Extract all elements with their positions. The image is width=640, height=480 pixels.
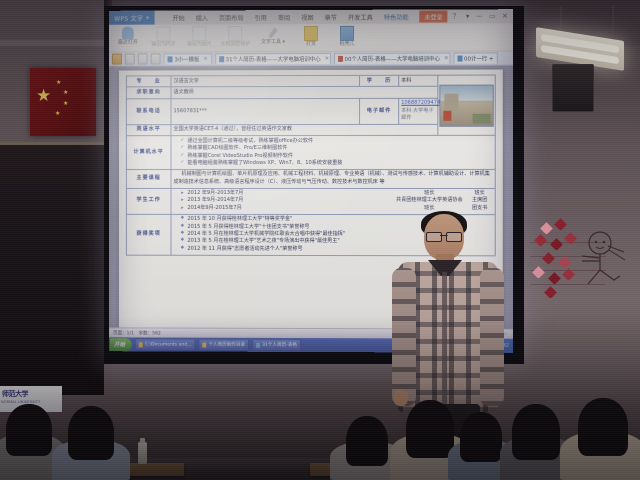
- lamp-rod-2: [612, 6, 614, 36]
- wps-logo-label: WPS 文字: [114, 13, 143, 22]
- menu-bar: 开始 插入 页面布局 引用 审阅 视图 章节 开发工具 特色功能: [172, 12, 408, 22]
- stick-figure-icon: [580, 230, 632, 286]
- doc-icon: [219, 56, 224, 62]
- doc-tab-3[interactable]: 00个人简历-表格——大学电脑培训中心 ✕: [334, 53, 450, 64]
- doc-tab-label: 31个人简历-表格——大学电脑培训中心: [226, 55, 321, 63]
- doc-icon: [168, 56, 173, 62]
- menu-item-layout[interactable]: 页面布局: [219, 13, 244, 22]
- ribbon-docer[interactable]: 稻壳儿: [332, 25, 362, 48]
- page-icon: [192, 26, 206, 41]
- courses-label: 主要课程: [126, 169, 171, 188]
- role-column-item: 主席团: [467, 197, 493, 204]
- work-role: 共青团桂林理工大学英语协会: [392, 197, 466, 204]
- open-doc-button[interactable]: [125, 54, 135, 65]
- list-item: 能看电脑组装熟练掌握了Windows XP、Win7、8、10系统安装重装: [181, 160, 492, 168]
- page-icon: [157, 27, 171, 42]
- close-icon[interactable]: ✕: [444, 56, 449, 62]
- ribbon-doc-encrypt[interactable]: 文档加密保护: [220, 25, 250, 48]
- menu-item-insert[interactable]: 插入: [196, 13, 208, 22]
- save-doc-button[interactable]: [138, 53, 148, 64]
- doc-tab-2[interactable]: 31个人简历-表格——大学电脑培训中心 ✕: [215, 53, 331, 64]
- ribbon-text-tools[interactable]: 文字工具 ▾: [256, 25, 290, 46]
- row-value: 汉语言文学: [171, 75, 360, 87]
- list-item: 熟练掌握Corel VideoStudio Pro视频制作软件: [181, 152, 492, 160]
- china-flag-icon: ★★ ★★★: [30, 68, 96, 136]
- docer-icon: [340, 26, 354, 41]
- audience-head: [68, 406, 114, 460]
- taskbar-item[interactable]: 31个人简历-表格: [252, 339, 301, 351]
- list-item: 2013 年9月-2014年7月: [181, 197, 392, 204]
- photo-cell: [438, 75, 495, 136]
- menu-item-start[interactable]: 开始: [172, 13, 184, 22]
- doc-tab-1[interactable]: 3小一模板 ✕: [164, 53, 212, 64]
- chevron-down-icon[interactable]: ▾: [146, 14, 149, 21]
- title-bar-right: 未登录 ？ ▾ － ▭ ✕: [419, 10, 513, 22]
- email-sub: 本科·大学电子邮件: [401, 107, 435, 122]
- row-label-2: 学 历: [360, 75, 399, 86]
- computer-skills-label: 计算机水平: [126, 136, 171, 169]
- audience-head: [6, 404, 52, 456]
- water-bottle: [138, 442, 147, 464]
- taskbar-item-label: 个人简历制作目录: [208, 342, 245, 348]
- heart-icon: [562, 268, 575, 281]
- window-controls[interactable]: ？ ▾ － ▭ ✕: [453, 11, 510, 21]
- audience-head: [460, 412, 502, 462]
- row-value: 15607831***: [171, 98, 360, 124]
- ribbon-export-image[interactable]: 输出为图片: [184, 25, 214, 48]
- ribbon-label: 稻壳儿: [339, 41, 354, 47]
- ribbon-reward[interactable]: 打赏: [296, 25, 326, 48]
- glasses-icon: [426, 232, 462, 240]
- work-role: 班长: [392, 205, 466, 212]
- doc-tab-label: 3小一模板: [174, 55, 199, 63]
- row-value: 全国大学英语CET-4（通过），曾经任过英语作文家教: [171, 124, 438, 136]
- taskbar-item-label: C:\Documents and...: [145, 342, 192, 347]
- ceiling-edge: [0, 40, 120, 46]
- table-row: 专 业 汉语言文学 学 历 本科: [126, 75, 495, 87]
- status-left: 页面：1/1 字数：562: [113, 330, 161, 336]
- blackboard: [0, 142, 104, 395]
- menu-item-features[interactable]: 特色功能: [384, 12, 409, 21]
- audience-head: [346, 416, 388, 466]
- computer-skills-cell: 通过全国计算机二级等级考试，熟练掌握office办公软件 熟练掌握CAD绘图软件…: [171, 136, 495, 170]
- ribbon-label: 输出为PDF: [151, 41, 176, 47]
- text-tool-icon: [267, 26, 279, 39]
- menu-item-review[interactable]: 审阅: [278, 13, 290, 22]
- doc-tab-label: 00个人简历-表格——大学电脑培训中心: [345, 55, 440, 63]
- row-label: 联系电话: [126, 99, 171, 125]
- role-column-item: 团支书: [467, 205, 493, 212]
- ribbon-label: 输出为图片: [187, 41, 212, 47]
- row-value-2: 1068872094740.com 本科·大学电子邮件: [399, 98, 438, 124]
- ribbon-label: 文字工具 ▾: [261, 39, 285, 45]
- doc-tab-label: 00计一行 +: [464, 54, 493, 62]
- table-row: 计算机水平 通过全国计算机二级等级考试，熟练掌握office办公软件 熟练掌握C…: [126, 136, 495, 170]
- row-label: 英语水平: [126, 125, 171, 136]
- audience-head: [406, 400, 454, 458]
- ribbon-label: 文档加密保护: [220, 41, 250, 47]
- ribbon-export-pdf[interactable]: 输出为PDF: [149, 25, 179, 48]
- wall-speaker: [552, 64, 594, 112]
- cloud-icon: [122, 27, 134, 40]
- heart-icon: [550, 238, 563, 251]
- folder-icon: [202, 342, 206, 347]
- taskbar-item[interactable]: 个人简历制作目录: [199, 339, 250, 351]
- courses-text: 机械制图与计算机绘图、单片机原理及应用、机械工程材料、机械原理、专业英语（机械）…: [171, 169, 495, 188]
- wps-logo: WPS 文字 ▾: [109, 11, 155, 25]
- taskbar-item[interactable]: C:\Documents and...: [135, 338, 196, 350]
- menu-item-section[interactable]: 章节: [325, 12, 337, 21]
- wps-icon: [256, 342, 260, 347]
- table-row: 主要课程 机械制图与计算机绘图、单片机原理及应用、机械工程材料、机械原理、专业英…: [126, 169, 495, 188]
- doc-icon: [457, 56, 462, 62]
- reward-icon: [304, 26, 318, 41]
- heart-icon: [544, 286, 557, 299]
- menu-item-developer[interactable]: 开发工具: [348, 12, 373, 21]
- awards-label: 获得奖项: [126, 214, 171, 255]
- new-doc-button[interactable]: [112, 54, 122, 65]
- audience-head: [578, 398, 628, 456]
- heart-icon: [542, 252, 555, 265]
- wps-title-bar: WPS 文字 ▾ 开始 插入 页面布局 引用 审阅 视图 章节 开发工具 特色功…: [109, 9, 513, 25]
- heart-icon: [534, 234, 547, 247]
- heart-icon: [548, 272, 561, 285]
- resume-photo: [439, 84, 493, 126]
- wall-decoration: [524, 196, 636, 346]
- row-label: 专 业: [126, 76, 171, 87]
- close-icon[interactable]: ✕: [325, 56, 330, 62]
- start-button[interactable]: 开始: [110, 338, 132, 351]
- row-value-2: 本科: [399, 75, 438, 86]
- row-value: 语文教师: [171, 87, 438, 99]
- undo-button[interactable]: [151, 53, 161, 64]
- row-label: 求职意向: [126, 87, 171, 98]
- audience-head: [512, 404, 560, 460]
- folder-icon: [139, 342, 143, 347]
- student-work-label: 学生工作: [126, 188, 171, 214]
- row-label-2: 电子邮件: [360, 98, 399, 124]
- login-button[interactable]: 未登录: [419, 10, 447, 22]
- ribbon-label: 打赏: [306, 41, 316, 47]
- document-tab-bar: 3小一模板 ✕ 31个人简历-表格——大学电脑培训中心 ✕ 00个人简历-表格—…: [109, 51, 513, 66]
- doc-icon-red: [338, 56, 343, 62]
- classroom-photo: ★★ ★★★: [0, 0, 640, 480]
- doc-tab-4[interactable]: 00计一行 +: [453, 52, 498, 63]
- ribbon-toolbar: 最近打开 输出为PDF 输出为图片 文档加密保护 文字工具 ▾: [109, 23, 513, 52]
- heart-icon: [554, 218, 567, 231]
- menu-item-view[interactable]: 视图: [301, 12, 313, 21]
- list-item: 2014年9月-2015年7月: [181, 205, 392, 213]
- menu-item-references[interactable]: 引用: [255, 13, 267, 22]
- close-icon[interactable]: ✕: [203, 56, 208, 62]
- taskbar-item-label: 31个人简历-表格: [262, 342, 297, 348]
- page-icon: [228, 26, 242, 41]
- ribbon-label: 最近打开: [118, 40, 138, 46]
- heart-icon: [532, 266, 545, 279]
- ribbon-recent-open[interactable]: 最近打开: [113, 26, 143, 47]
- audience: [0, 372, 640, 480]
